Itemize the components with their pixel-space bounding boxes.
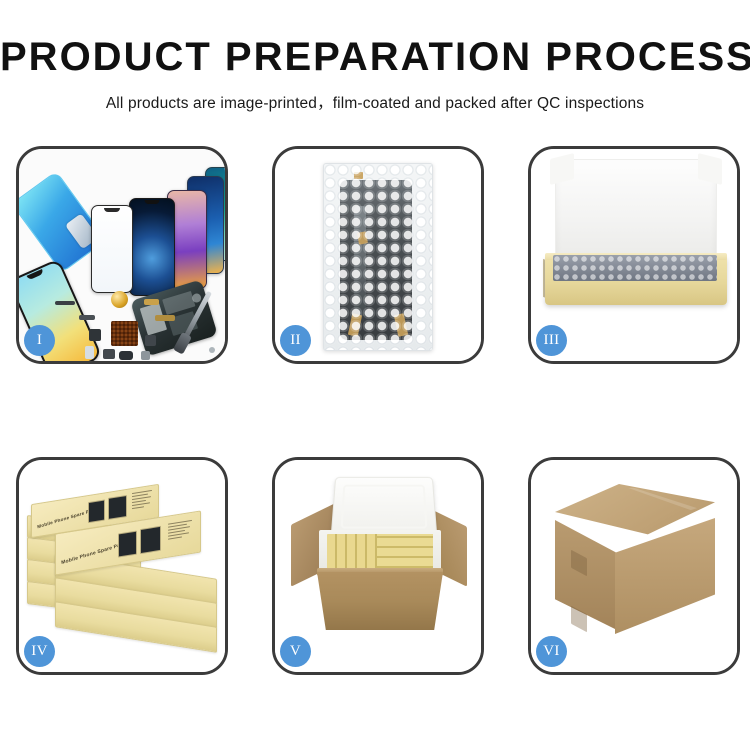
- glass-protector-graphic: [91, 205, 133, 293]
- tape-graphic: [357, 231, 368, 244]
- component-part-graphic: [119, 351, 133, 360]
- process-step-panel-6[interactable]: VI: [528, 457, 740, 675]
- dark-phone-graphic: [129, 198, 175, 296]
- component-part-graphic: [79, 315, 95, 320]
- component-part-graphic: [155, 315, 175, 321]
- tape-graphic: [354, 172, 363, 179]
- box-spec-text: [132, 490, 154, 511]
- carton-right-face: [615, 518, 715, 634]
- box-spec-text: [168, 520, 194, 542]
- step-badge-4: IV: [24, 636, 55, 667]
- process-step-panel-1[interactable]: I: [16, 146, 228, 364]
- box-stack-graphic: Mobile Phone Spare Parts Mobile Phone Sp…: [25, 478, 225, 658]
- process-step-panel-2[interactable]: II: [272, 146, 484, 364]
- step-badge-6: VI: [536, 636, 567, 667]
- screen-artwork: [88, 499, 105, 523]
- component-part-graphic: [55, 301, 75, 305]
- component-part-graphic: [144, 299, 159, 305]
- screen-artwork: [108, 495, 127, 520]
- screen-artwork: [140, 526, 161, 554]
- header: PRODUCT PREPARATION PROCESS All products…: [0, 0, 750, 113]
- component-part-graphic: [103, 349, 115, 359]
- screen-artwork: [118, 531, 137, 558]
- screw-graphic: [219, 355, 224, 360]
- coil-component-graphic: [111, 291, 128, 308]
- foam-lid-graphic: [331, 477, 438, 538]
- page-title: PRODUCT PREPARATION PROCESS: [0, 34, 750, 80]
- step-badge-5: V: [280, 636, 311, 667]
- step-badge-3: III: [536, 325, 567, 356]
- page-subtitle: All products are image-printed，film-coat…: [0, 91, 750, 113]
- process-step-panel-5[interactable]: V: [272, 457, 484, 675]
- process-step-panel-3[interactable]: III: [528, 146, 740, 364]
- chip-grid-graphic: [111, 321, 138, 346]
- step-badge-2: II: [280, 325, 311, 356]
- step-badge-1: I: [24, 325, 55, 356]
- carton-body-graphic: [317, 572, 443, 630]
- process-step-grid: I II: [16, 146, 734, 675]
- component-part-graphic: [85, 346, 94, 359]
- product-preparation-infographic: PRODUCT PREPARATION PROCESS All products…: [0, 0, 750, 750]
- bubble-wrap-bag-graphic: [323, 163, 433, 351]
- component-part-graphic: [145, 335, 156, 346]
- component-part-graphic: [89, 329, 101, 341]
- bubble-wrapped-contents-graphic: [553, 255, 717, 281]
- process-step-panel-4[interactable]: Mobile Phone Spare Parts Mobile Phone Sp…: [16, 457, 228, 675]
- screw-graphic: [209, 347, 215, 353]
- component-part-graphic: [141, 351, 150, 360]
